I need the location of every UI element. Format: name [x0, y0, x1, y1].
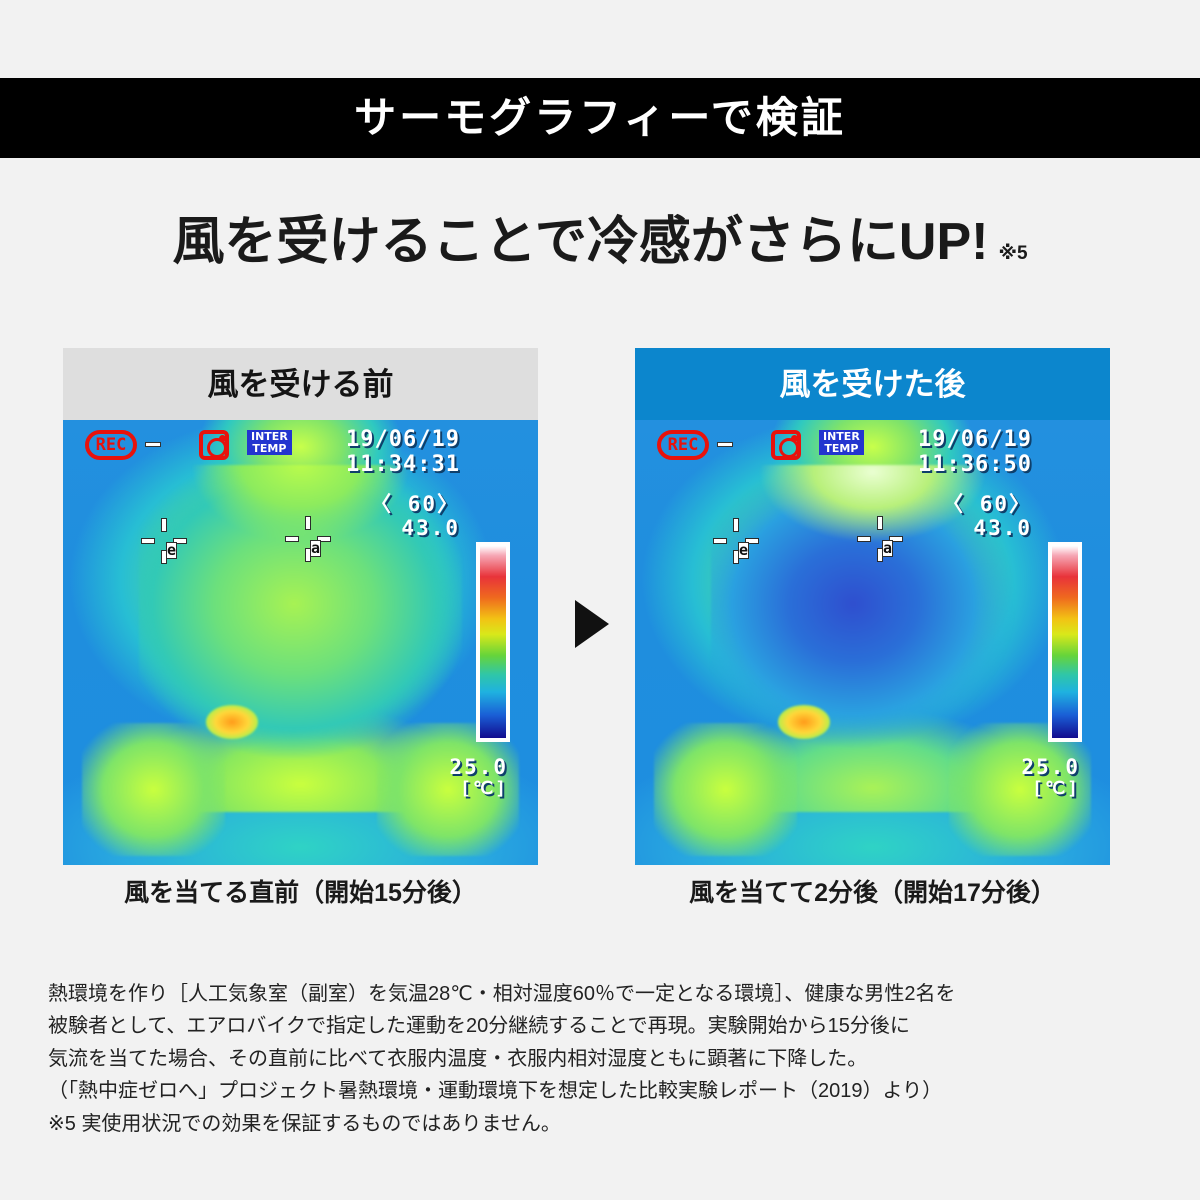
- main-heading: 風を受けることで冷感がさらにUP! ※5: [0, 214, 1200, 271]
- clock-icon: [771, 430, 801, 460]
- hud-min-block: 25.0 [℃]: [1021, 755, 1080, 800]
- progress-arrow-icon: [575, 600, 609, 648]
- hud-time: 11:34:31: [346, 453, 460, 478]
- color-scale-bar: [1048, 542, 1082, 742]
- footnote-block: 熱環境を作り［人工気象室（副室）を気温28℃・相対湿度60％で一定となる環境］、…: [48, 978, 1158, 1140]
- color-scale-bar: [476, 542, 510, 742]
- inter-temp-line1: INTER: [823, 431, 860, 443]
- thermal-image-before: REC INTER TEMP 19/06/19 11:34:31 〈 60〉 4…: [63, 420, 538, 865]
- crosshair-marker-b: a: [857, 516, 903, 562]
- caption-before: 風を当てる直前（開始15分後）: [63, 878, 538, 908]
- inter-temp-badge: INTER TEMP: [819, 430, 864, 455]
- hud-dash-icon: [717, 442, 733, 447]
- hud-date: 19/06/19: [918, 428, 1032, 453]
- panel-after: 風を受けた後 REC INTER TEMP: [635, 348, 1110, 865]
- footnote-line-3: 気流を当てた場合、その直前に比べて衣服内温度・衣服内相対湿度ともに顕著に下降した…: [48, 1043, 1158, 1075]
- hud-dash-icon: [145, 442, 161, 447]
- crosshair-b-label: a: [310, 540, 321, 557]
- hud-max-temp: 43.0: [346, 517, 460, 541]
- crosshair-a-label: e: [166, 542, 177, 559]
- caption-after: 風を当てて2分後（開始17分後）: [635, 878, 1110, 908]
- crosshair-b-label: a: [882, 540, 893, 557]
- footnote-line-5: ※5 実使用状況での効果を保証するものではありません。: [48, 1108, 1158, 1140]
- panel-before: 風を受ける前 REC INTER TEMP: [63, 348, 538, 865]
- hud-min-temp: 25.0: [1021, 755, 1080, 779]
- rec-icon: REC: [85, 430, 137, 460]
- hud-readout-after: 19/06/19 11:36:50 〈 60〉 43.0: [918, 428, 1032, 540]
- crosshair-marker-b: a: [285, 516, 331, 562]
- hud-time: 11:36:50: [918, 453, 1032, 478]
- heading-footnote-marker: ※5: [998, 242, 1027, 265]
- inter-temp-line2: TEMP: [823, 443, 860, 455]
- footnote-line-1: 熱環境を作り［人工気象室（副室）を気温28℃・相対湿度60％で一定となる環境］、…: [48, 978, 1158, 1010]
- crosshair-a-label: e: [738, 542, 749, 559]
- banner-title: サーモグラフィーで検証: [354, 97, 846, 139]
- hud-min-temp: 25.0: [449, 755, 508, 779]
- hud-unit: [℃]: [1021, 779, 1080, 800]
- hud-min-block: 25.0 [℃]: [449, 755, 508, 800]
- rec-icon: REC: [657, 430, 709, 460]
- panel-before-header-label: 風を受ける前: [208, 369, 394, 400]
- panel-before-header: 風を受ける前: [63, 348, 538, 420]
- hud-unit: [℃]: [449, 779, 508, 800]
- page-root: サーモグラフィーで検証 風を受けることで冷感がさらにUP! ※5 風を受ける前 …: [0, 0, 1200, 1200]
- panel-after-header-label: 風を受けた後: [780, 369, 966, 400]
- hud-max-temp: 43.0: [918, 517, 1032, 541]
- thermal-image-after: REC INTER TEMP 19/06/19 11:36:50 〈 60〉 4…: [635, 420, 1110, 865]
- color-scale-gradient: [480, 546, 506, 738]
- inter-temp-line1: INTER: [251, 431, 288, 443]
- heading-text: 風を受けることで冷感がさらにUP!: [172, 214, 988, 271]
- hud-readout-before: 19/06/19 11:34:31 〈 60〉 43.0: [346, 428, 460, 540]
- thermal-hud-after: REC INTER TEMP 19/06/19 11:36:50 〈 60〉 4…: [635, 420, 1110, 865]
- hud-range: 〈 60〉: [918, 493, 1032, 517]
- inter-temp-line2: TEMP: [251, 443, 288, 455]
- header-banner: サーモグラフィーで検証: [0, 78, 1200, 158]
- clock-icon: [199, 430, 229, 460]
- hud-date: 19/06/19: [346, 428, 460, 453]
- thermal-hud-before: REC INTER TEMP 19/06/19 11:34:31 〈 60〉 4…: [63, 420, 538, 865]
- hud-range: 〈 60〉: [346, 493, 460, 517]
- crosshair-marker-a: e: [141, 518, 187, 564]
- footnote-line-2: 被験者として、エアロバイクで指定した運動を20分継続することで再現。実験開始から…: [48, 1010, 1158, 1042]
- crosshair-marker-a: e: [713, 518, 759, 564]
- color-scale-gradient: [1052, 546, 1078, 738]
- footnote-line-4: （「熱中症ゼロへ」プロジェクト暑熱環境・運動環境下を想定した比較実験レポート（2…: [48, 1075, 1158, 1107]
- inter-temp-badge: INTER TEMP: [247, 430, 292, 455]
- panel-after-header: 風を受けた後: [635, 348, 1110, 420]
